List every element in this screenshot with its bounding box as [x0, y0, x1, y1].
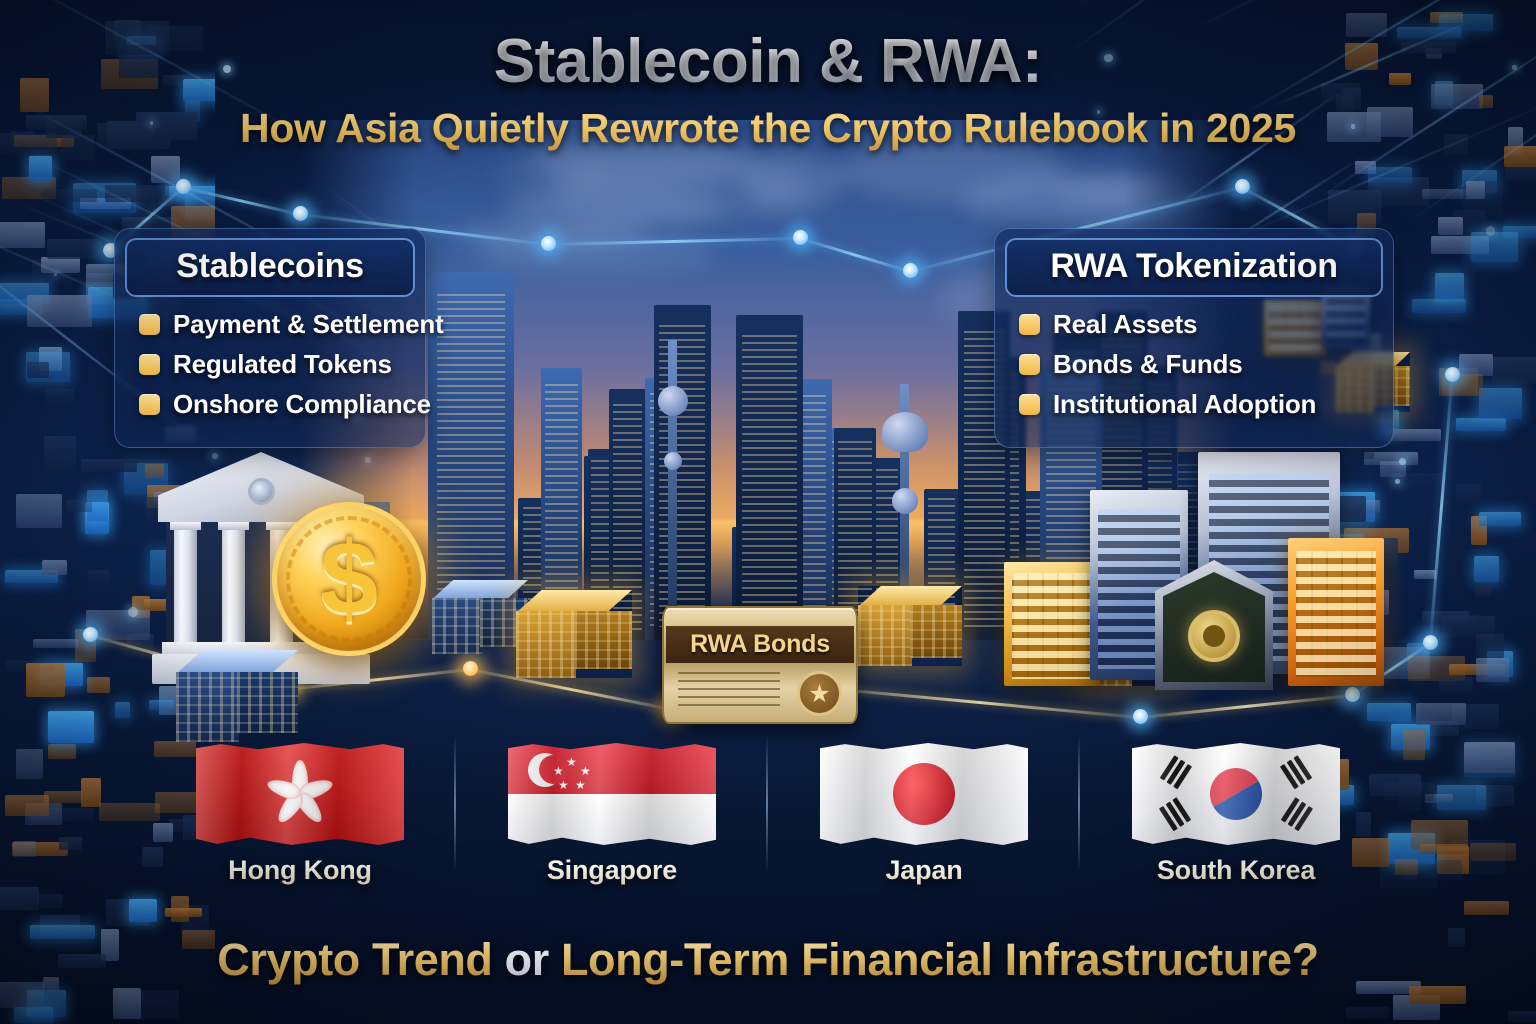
country-hong-kong[interactable]: Hong Kong [175, 742, 425, 902]
singapore-flag-icon: ★ ★ ★ ★ ★ [508, 742, 716, 846]
bullet-label: Onshore Compliance [173, 389, 431, 420]
certificate-seal-icon: ★ [797, 671, 842, 716]
rwa-heading: RWA Tokenization [1050, 247, 1337, 285]
list-item[interactable]: Regulated Tokens [139, 349, 425, 380]
flag-divider [766, 734, 768, 872]
south-korea-flag-icon [1132, 742, 1340, 846]
japan-flag-icon [820, 742, 1028, 846]
trigram-icon [1160, 797, 1191, 831]
rwa-panel-header: RWA Tokenization [1005, 238, 1383, 297]
flag-divider [454, 734, 456, 872]
star-icon: ★ [553, 765, 564, 777]
infographic-canvas: $ RWA Bonds ★ [0, 0, 1536, 1024]
rwa-bonds-label: RWA Bonds [690, 630, 830, 659]
bauhinia-icon [263, 757, 337, 831]
trigram-icon [1281, 755, 1312, 789]
page-title: Stablecoin & RWA: [0, 30, 1536, 93]
country-label: Hong Kong [175, 855, 425, 886]
rwa-bullet-list: Real Assets Bonds & Funds Institutional … [995, 309, 1393, 420]
bullet-label: Regulated Tokens [173, 349, 392, 380]
stablecoins-panel[interactable]: Stablecoins Payment & Settlement Regulat… [114, 228, 426, 448]
country-label: Singapore [487, 855, 737, 886]
bullet-square-icon [1019, 394, 1040, 415]
trigram-icon [1160, 755, 1191, 789]
star-icon: ★ [575, 779, 586, 791]
tokenized-asset-building [1004, 562, 1100, 686]
flag-divider [1078, 734, 1080, 872]
bullet-square-icon [1019, 354, 1040, 375]
bullet-square-icon [1019, 314, 1040, 335]
bullet-label: Payment & Settlement [173, 309, 444, 340]
bullet-label: Bonds & Funds [1053, 349, 1243, 380]
dollar-sign-glyph: $ [320, 527, 378, 631]
tagline-part-1: Crypto Trend [217, 934, 504, 985]
list-item[interactable]: Onshore Compliance [139, 389, 425, 420]
bullet-label: Real Assets [1053, 309, 1197, 340]
country-singapore[interactable]: ★ ★ ★ ★ ★ Singapore [487, 742, 737, 902]
page-subtitle: How Asia Quietly Rewrote the Crypto Rule… [0, 105, 1536, 152]
tagline-part-2: or [505, 934, 561, 985]
tokenized-asset-building [1288, 538, 1384, 686]
certificate-text-lines [678, 672, 780, 712]
footer-tagline: Crypto Trend or Long-Term Financial Infr… [0, 934, 1536, 986]
rwa-bond-certificate: RWA Bonds ★ [662, 606, 858, 724]
hinomaru-icon [893, 763, 955, 825]
list-item[interactable]: Bonds & Funds [1019, 349, 1393, 380]
blockchain-cube-icon [432, 580, 528, 654]
bank-clock-icon [248, 478, 275, 505]
list-item[interactable]: Payment & Settlement [139, 309, 425, 340]
country-south-korea[interactable]: South Korea [1111, 742, 1361, 902]
bullet-square-icon [139, 354, 160, 375]
list-item[interactable]: Real Assets [1019, 309, 1393, 340]
list-item[interactable]: Institutional Adoption [1019, 389, 1393, 420]
taeguk-icon [1200, 758, 1271, 829]
bullet-square-icon [139, 394, 160, 415]
stablecoins-heading: Stablecoins [176, 247, 364, 285]
blockchain-cube-icon [516, 590, 632, 678]
country-label: Japan [799, 855, 1049, 886]
header-block: Stablecoin & RWA: How Asia Quietly Rewro… [0, 30, 1536, 152]
blockchain-cube-icon [176, 650, 298, 742]
country-flag-row: Hong Kong ★ ★ ★ ★ ★ Singapore Japan [0, 742, 1536, 902]
rwa-tokenization-panel[interactable]: RWA Tokenization Real Assets Bonds & Fun… [994, 228, 1394, 448]
country-label: South Korea [1111, 855, 1361, 886]
bullet-square-icon [139, 314, 160, 335]
star-icon: ★ [566, 756, 577, 768]
trigram-icon [1281, 797, 1312, 831]
tagline-part-3: Long-Term Financial Infrastructure? [561, 934, 1319, 985]
blockchain-cube-icon [858, 586, 962, 666]
hong-kong-flag-icon [196, 742, 404, 846]
country-japan[interactable]: Japan [799, 742, 1049, 902]
bullet-label: Institutional Adoption [1053, 389, 1316, 420]
stablecoins-panel-header: Stablecoins [125, 238, 415, 297]
star-icon: ★ [558, 779, 569, 791]
star-icon: ★ [580, 765, 591, 777]
stablecoins-bullet-list: Payment & Settlement Regulated Tokens On… [115, 309, 425, 420]
gold-dollar-coin-icon: $ [272, 502, 426, 656]
